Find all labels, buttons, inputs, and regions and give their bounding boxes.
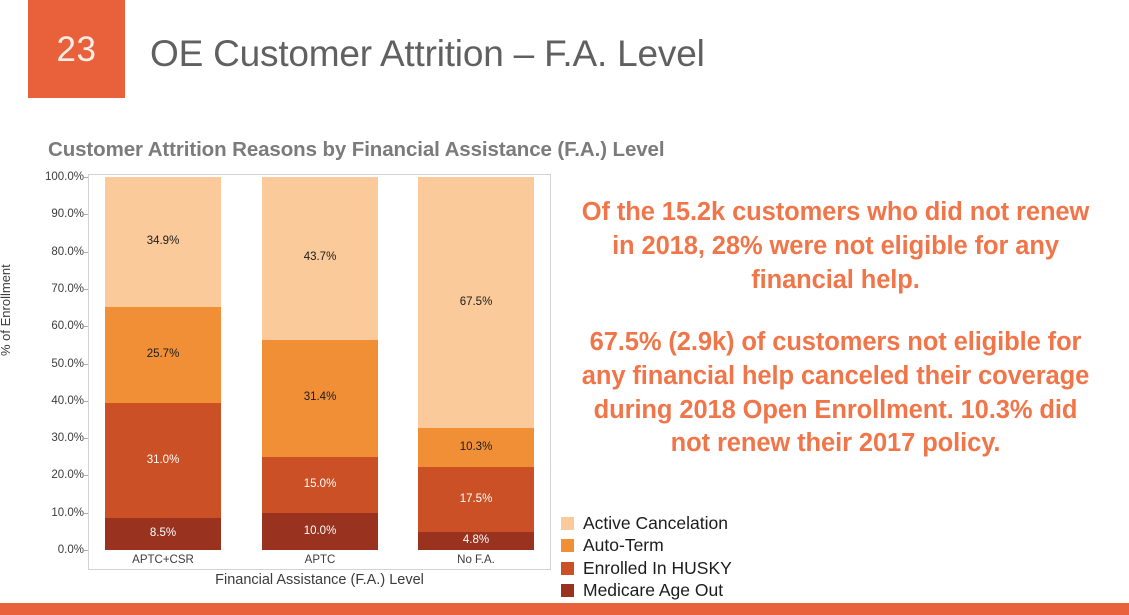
y-axis-tick-mark	[84, 550, 88, 551]
bar-segment: 17.5%	[418, 467, 534, 532]
stacked-bar: 67.5%10.3%17.5%4.8%	[418, 177, 534, 550]
bar-segment: 15.0%	[262, 457, 378, 513]
bar-segment-label: 31.4%	[304, 392, 337, 404]
bar-segment-label: 8.5%	[150, 528, 176, 540]
bar-segment-label: 25.7%	[147, 349, 180, 361]
slide-header: 23 OE Customer Attrition – F.A. Level	[0, 0, 1129, 100]
legend-item-label: Active Cancelation	[583, 515, 728, 533]
chart-title: Customer Attrition Reasons by Financial …	[48, 138, 664, 162]
legend-swatch-icon	[561, 562, 574, 575]
legend-item-label: Enrolled In HUSKY	[583, 560, 732, 578]
y-axis-ticks: 100.0%90.0%80.0%70.0%60.0%50.0%40.0%30.0…	[28, 177, 84, 550]
bar-segment-label: 4.8%	[463, 535, 489, 547]
x-axis-tick-label: APTC+CSR	[93, 554, 233, 566]
bar-segment: 34.9%	[105, 177, 221, 307]
legend-item[interactable]: Enrolled In HUSKY	[561, 557, 861, 580]
legend-swatch-icon	[561, 517, 574, 530]
y-axis-tick-label: 30.0%	[36, 432, 84, 444]
stacked-bar: 43.7%31.4%15.0%10.0%	[262, 177, 378, 550]
footer-accent-bar	[0, 603, 1129, 615]
x-axis-tick-label: No F.A.	[406, 554, 546, 566]
chart-legend: Active CancelationAuto-TermEnrolled In H…	[561, 512, 861, 602]
page-title: OE Customer Attrition – F.A. Level	[150, 33, 705, 75]
bar-segment: 31.0%	[105, 403, 221, 519]
legend-swatch-icon	[561, 584, 574, 597]
legend-item-label: Auto-Term	[583, 537, 664, 555]
chart-container: Customer Attrition Reasons by Financial …	[0, 120, 580, 600]
y-axis-tick-label: 70.0%	[36, 283, 84, 295]
y-axis-tick-label: 10.0%	[36, 507, 84, 519]
bar-segment-label: 34.9%	[147, 236, 180, 248]
y-axis-tick-label: 60.0%	[36, 320, 84, 332]
legend-item[interactable]: Auto-Term	[561, 535, 861, 558]
bar-segment-label: 67.5%	[460, 297, 493, 309]
bar-segment: 31.4%	[262, 340, 378, 457]
bar-segment-label: 10.0%	[304, 526, 337, 538]
x-axis-tick-label: APTC	[250, 554, 390, 566]
slide-number-text: 23	[57, 32, 97, 67]
legend-item[interactable]: Medicare Age Out	[561, 580, 861, 603]
slide-number-badge: 23	[28, 0, 125, 98]
x-axis-label: Financial Assistance (F.A.) Level	[88, 572, 551, 588]
stacked-bar: 34.9%25.7%31.0%8.5%	[105, 177, 221, 550]
bar-segment: 10.0%	[262, 513, 378, 550]
bar-segment-label: 17.5%	[460, 494, 493, 506]
legend-swatch-icon	[561, 539, 574, 552]
y-axis-label: % of Enrollment	[0, 264, 13, 356]
bar-segment: 25.7%	[105, 307, 221, 403]
plot-area: 34.9%25.7%31.0%8.5% 43.7%31.4%15.0%10.0%…	[88, 177, 551, 550]
y-axis-tick-label: 80.0%	[36, 246, 84, 258]
callout-text: Of the 15.2k customers who did not renew…	[574, 196, 1097, 298]
bar-segment: 4.8%	[418, 532, 534, 550]
bar-segment-label: 15.0%	[304, 479, 337, 491]
y-axis-tick-label: 40.0%	[36, 395, 84, 407]
y-axis-tick-label: 100.0%	[36, 171, 84, 183]
legend-item-label: Medicare Age Out	[583, 582, 723, 600]
bar-segment-label: 10.3%	[460, 442, 493, 454]
bar-segment: 43.7%	[262, 177, 378, 340]
x-axis-ticks: APTC+CSRAPTCNo F.A.	[88, 554, 551, 572]
y-axis-tick-label: 20.0%	[36, 469, 84, 481]
y-axis-tick-label: 50.0%	[36, 358, 84, 370]
y-axis-tick-label: 0.0%	[36, 544, 84, 556]
bar-segment: 67.5%	[418, 177, 534, 429]
y-axis-tick-label: 90.0%	[36, 208, 84, 220]
bar-segment: 8.5%	[105, 518, 221, 550]
callout-text: 67.5% (2.9k) of customers not eligible f…	[574, 326, 1097, 462]
bar-segment-label: 43.7%	[304, 252, 337, 264]
bar-segment-label: 31.0%	[147, 455, 180, 467]
bar-segment: 10.3%	[418, 428, 534, 466]
callout-group: Of the 15.2k customers who did not renew…	[574, 196, 1097, 461]
legend-item[interactable]: Active Cancelation	[561, 512, 861, 535]
